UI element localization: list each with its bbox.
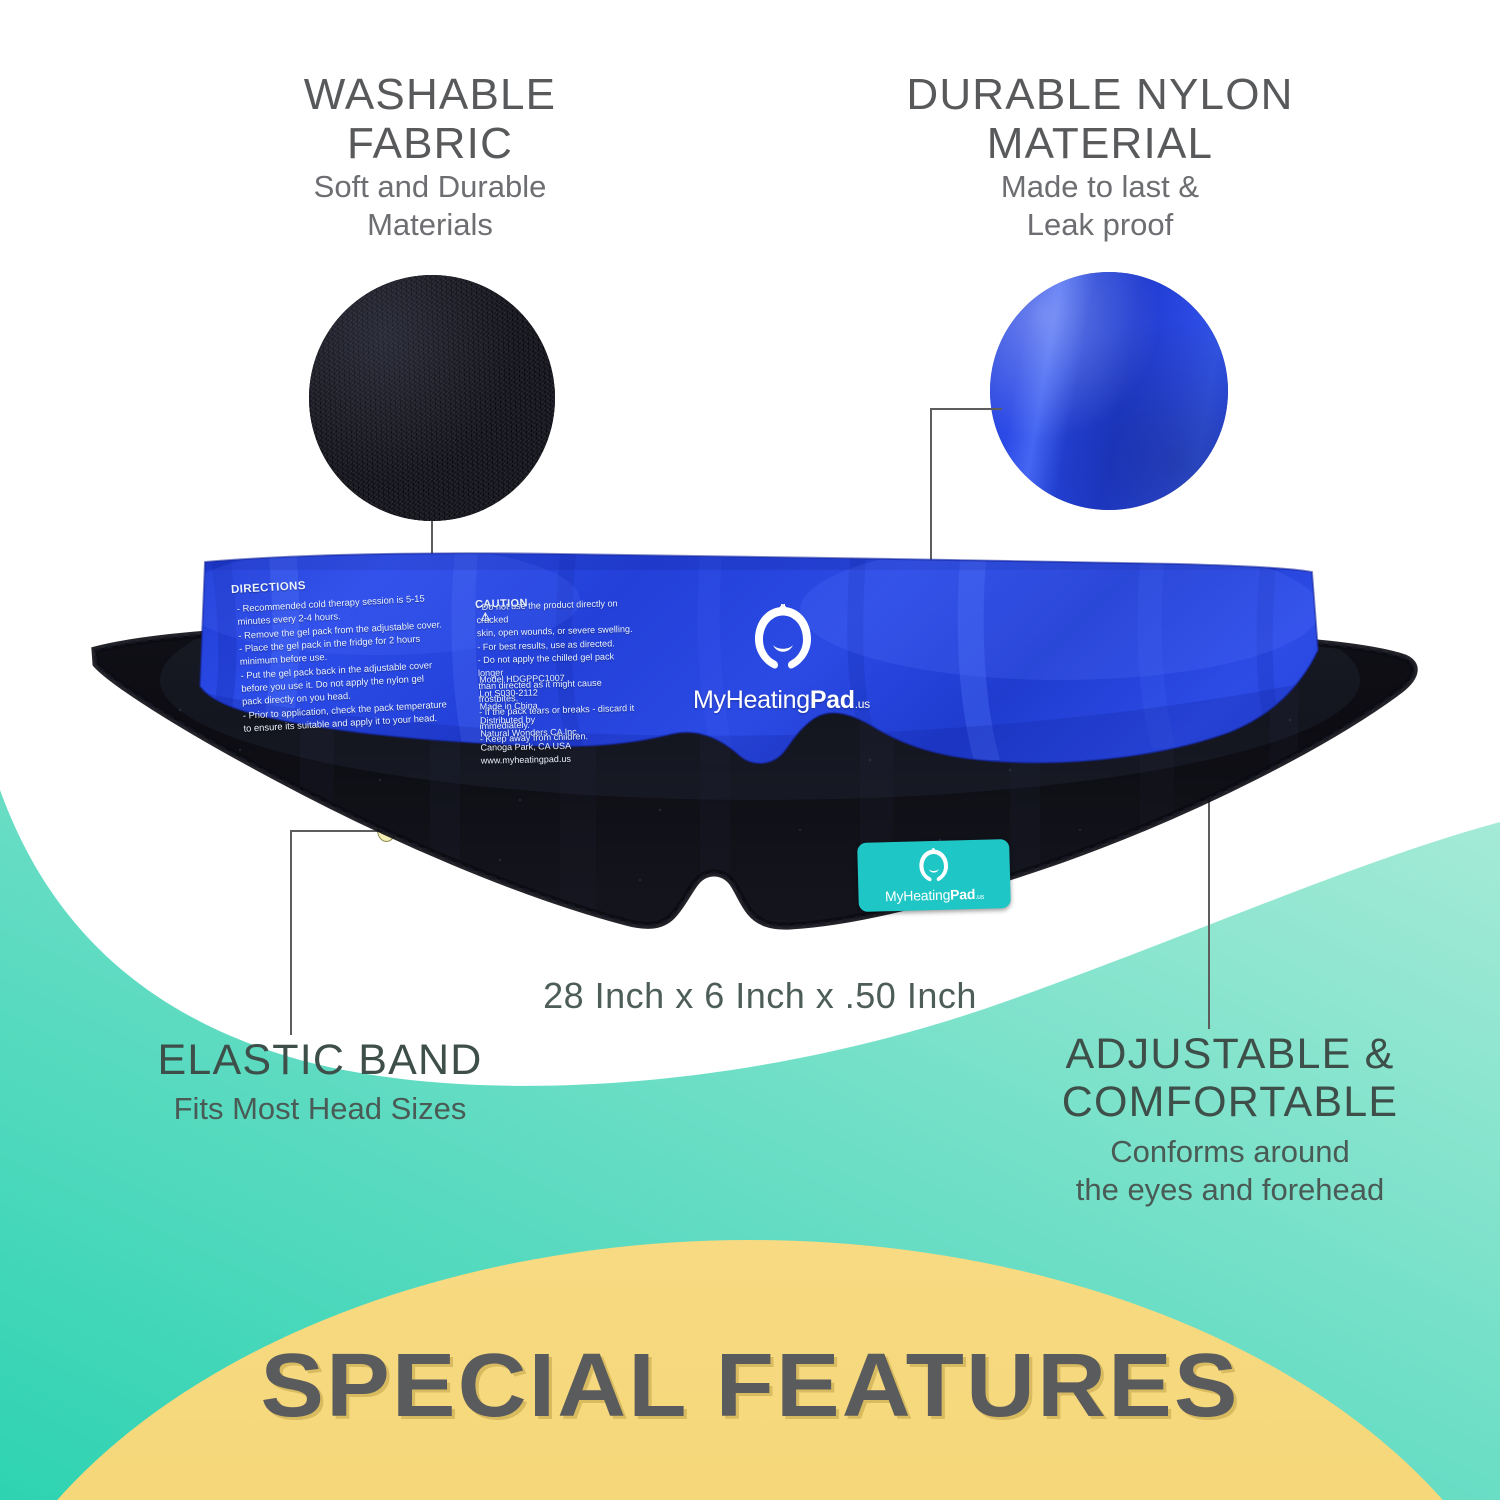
- brand-word-pad: Pad: [810, 686, 855, 714]
- banner-title: SPECIAL FEATURES: [0, 1335, 1500, 1438]
- product-brand-tag: MyHeatingPad.us: [857, 839, 1011, 912]
- infographic-canvas: WASHABLE FABRIC Soft and Durable Materia…: [0, 0, 1500, 1500]
- brand-wordmark-tag: MyHeatingPad.us: [858, 885, 1010, 905]
- brand-logo-icon-tag: [915, 846, 952, 887]
- brand-wordmark-gel: MyHeatingPad.us: [693, 686, 870, 715]
- feature-title-adjustable-comfortable: ADJUSTABLE & COMFORTABLE: [1000, 1030, 1460, 1126]
- connector-elbow-durable-nylon: [930, 408, 1002, 410]
- fabric-texture: [309, 275, 555, 521]
- feature-title-washable-fabric: WASHABLE FABRIC: [180, 70, 680, 169]
- feature-title-durable-nylon: DURABLE NYLON MATERIAL: [840, 70, 1360, 169]
- tag-word-my: My: [885, 888, 904, 904]
- feature-subtitle-adjustable-comfortable: Conforms around the eyes and forehead: [1000, 1133, 1460, 1209]
- brand-word-my: My: [693, 686, 726, 714]
- nylon-texture: [990, 272, 1228, 510]
- tag-word-tld: .us: [975, 894, 984, 901]
- product-dimensions-label: 28 Inch x 6 Inch x .50 Inch: [400, 975, 1120, 1017]
- callout-swatch-fabric: [309, 275, 555, 521]
- brand-word-heating: Heating: [726, 686, 810, 714]
- tag-word-pad: Pad: [950, 886, 975, 903]
- gel-manufacturer-info: Model HDGPPC1007 Lot S030-2112 Made in C…: [479, 670, 641, 768]
- feature-subtitle-elastic-band: Fits Most Head Sizes: [60, 1090, 580, 1128]
- gel-directions-body: - Recommended cold therapy session is 5-…: [236, 590, 453, 735]
- brand-word-tld: .us: [855, 697, 870, 711]
- feature-subtitle-washable-fabric: Soft and Durable Materials: [180, 168, 680, 244]
- tag-word-heating: Heating: [903, 887, 950, 904]
- feature-subtitle-durable-nylon: Made to last & Leak proof: [840, 168, 1360, 244]
- product-illustration: [0, 530, 1500, 950]
- callout-swatch-nylon: [990, 272, 1228, 510]
- feature-title-elastic-band: ELASTIC BAND: [60, 1036, 580, 1084]
- brand-logo-icon: [748, 600, 818, 678]
